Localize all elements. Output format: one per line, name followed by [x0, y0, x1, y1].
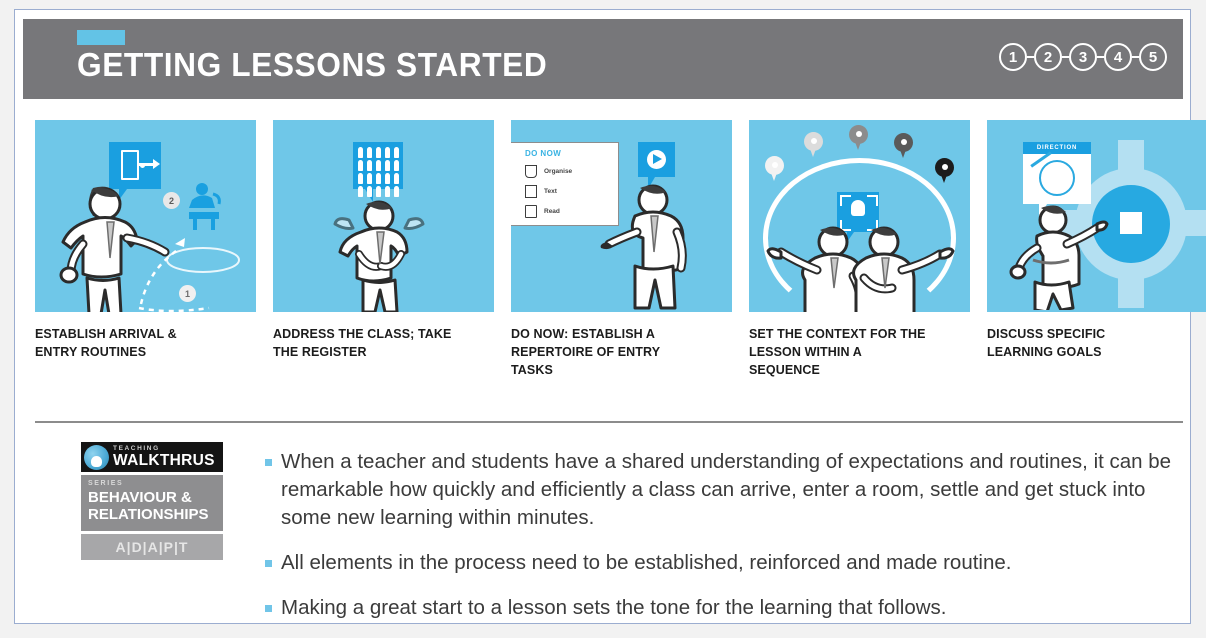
map-pin-icon [765, 156, 784, 181]
student-glyph [385, 186, 390, 197]
do-now-item-label: Organise [544, 168, 572, 175]
brand-logo-block: TEACHING WALKTHRUS SERIES BEHAVIOUR & RE… [81, 442, 231, 638]
series-name: BEHAVIOUR & RELATIONSHIPS [88, 489, 223, 524]
page-title: GETTING LESSONS STARTED [77, 46, 547, 84]
step-panel-5: DIRECTION [987, 120, 1206, 379]
step-connector [1027, 56, 1034, 59]
bullet-item: When a teacher and students have a share… [265, 448, 1185, 532]
document-icon [525, 185, 537, 198]
step-connector [1132, 56, 1139, 59]
bullet-marker-icon [265, 605, 272, 612]
map-pin-tip [770, 170, 778, 181]
summary-bullets: When a teacher and students have a share… [265, 442, 1185, 638]
teacher-figure [331, 198, 439, 312]
lightbulb-icon [851, 200, 865, 216]
bullet-item: All elements in the process need to be e… [265, 549, 1185, 577]
student-glyph [385, 147, 390, 158]
door-icon [121, 150, 139, 180]
student-glyph [394, 147, 399, 158]
map-pin-tip [940, 172, 948, 183]
student-glyph [367, 173, 372, 184]
bullet-marker-icon [265, 459, 272, 466]
step-dot-2[interactable]: 2 [1034, 43, 1062, 71]
arrow-head-icon [153, 159, 160, 169]
step-dot-4[interactable]: 4 [1104, 43, 1132, 71]
step-connector [1062, 56, 1069, 59]
slide-page: GETTING LESSONS STARTED 1 2 3 4 5 [14, 9, 1191, 624]
compass-icon [1039, 160, 1075, 196]
student-glyph [358, 147, 363, 158]
step-caption-1: ESTABLISH ARRIVAL & ENTRY ROUTINES [35, 325, 256, 361]
step-panel-4: SET THE CONTEXT FOR THE LESSON WITHIN A … [749, 120, 970, 379]
walkthrus-logo-text: TEACHING WALKTHRUS [113, 446, 215, 469]
step-illustration-4 [749, 120, 970, 312]
globe-icon [84, 445, 109, 470]
step-caption-2: ADDRESS THE CLASS; TAKE THE REGISTER [273, 325, 494, 361]
book-icon [525, 205, 537, 218]
student-glyph [358, 186, 363, 197]
student-glyph [394, 173, 399, 184]
step-dot-1[interactable]: 1 [999, 43, 1027, 71]
bullet-item: Making a great start to a lesson sets th… [265, 594, 1185, 622]
student-glyph [367, 160, 372, 171]
direction-sign-label: DIRECTION [1023, 142, 1091, 154]
step-caption-4: SET THE CONTEXT FOR THE LESSON WITHIN A … [749, 325, 970, 379]
adapt-badge: A|D|A|P|T [81, 534, 223, 560]
section-divider [35, 421, 1183, 423]
map-pin-icon [804, 132, 823, 157]
student-glyph [358, 160, 363, 171]
student-glyph [358, 173, 363, 184]
student-glyph [394, 160, 399, 171]
step-connector [1097, 56, 1104, 59]
student-glyph [367, 186, 372, 197]
step-caption-3: DO NOW: ESTABLISH A REPERTOIRE OF ENTRY … [511, 325, 732, 379]
series-label: SERIES [88, 480, 223, 487]
student-glyph [385, 173, 390, 184]
do-now-item: Organise [525, 165, 618, 178]
direction-sign: DIRECTION [1023, 142, 1091, 204]
step-panel-1: 2 1 [35, 120, 256, 379]
summary-section: TEACHING WALKTHRUS SERIES BEHAVIOUR & RE… [35, 442, 1185, 638]
step-panels: 2 1 [35, 120, 1195, 379]
slide-header: GETTING LESSONS STARTED 1 2 3 4 5 [23, 19, 1183, 99]
teacher-figure [55, 182, 190, 312]
bullet-text: When a teacher and students have a share… [281, 448, 1185, 532]
teacher-figure [599, 182, 717, 312]
step-indicator: 1 2 3 4 5 [999, 43, 1167, 71]
map-pin-dot [901, 139, 907, 145]
cup-icon [525, 165, 537, 178]
map-pin-tip [854, 139, 862, 150]
teacher-figure-right [844, 216, 964, 312]
bracket-corner-icon [867, 195, 878, 206]
map-pin-dot [811, 138, 817, 144]
bullet-text: All elements in the process need to be e… [281, 549, 1011, 577]
map-pin-dot [772, 162, 778, 168]
step-illustration-3: DO NOW Organise Text Read [511, 120, 732, 312]
teacher-figure [1009, 198, 1129, 310]
map-pin-icon [894, 133, 913, 158]
logo-walkthrus-label: WALKTHRUS [113, 453, 215, 469]
map-pin-dot [942, 164, 948, 170]
step-panel-2: ADDRESS THE CLASS; TAKE THE REGISTER [273, 120, 494, 379]
map-pin-dot [856, 131, 862, 137]
series-badge: SERIES BEHAVIOUR & RELATIONSHIPS [81, 475, 223, 531]
class-grid-icon [358, 147, 401, 197]
bullet-marker-icon [265, 560, 272, 567]
student-glyph [376, 173, 381, 184]
do-now-item-label: Text [544, 188, 557, 195]
step-dot-3[interactable]: 3 [1069, 43, 1097, 71]
step-illustration-5: DIRECTION [987, 120, 1206, 312]
map-pin-tip [809, 146, 817, 157]
bullet-text: Making a great start to a lesson sets th… [281, 594, 946, 622]
do-now-item-label: Read [544, 208, 560, 215]
student-glyph [367, 147, 372, 158]
step-illustration-1: 2 1 [35, 120, 256, 312]
walkthrus-logo: TEACHING WALKTHRUS [81, 442, 223, 472]
student-glyph [376, 186, 381, 197]
bracket-corner-icon [840, 195, 851, 206]
play-triangle-icon [653, 154, 662, 164]
map-pin-icon [849, 125, 868, 150]
do-now-title: DO NOW [525, 149, 618, 158]
map-pin-icon [935, 158, 954, 183]
student-glyph [394, 186, 399, 197]
map-pin-tip [899, 147, 907, 158]
header-accent-tab [77, 30, 125, 45]
step-panel-3: DO NOW Organise Text Read [511, 120, 732, 379]
student-glyph [376, 147, 381, 158]
step-illustration-2 [273, 120, 494, 312]
student-glyph [376, 160, 381, 171]
step-dot-5[interactable]: 5 [1139, 43, 1167, 71]
step-caption-5: DISCUSS SPECIFIC LEARNING GOALS [987, 325, 1206, 361]
student-glyph [385, 160, 390, 171]
